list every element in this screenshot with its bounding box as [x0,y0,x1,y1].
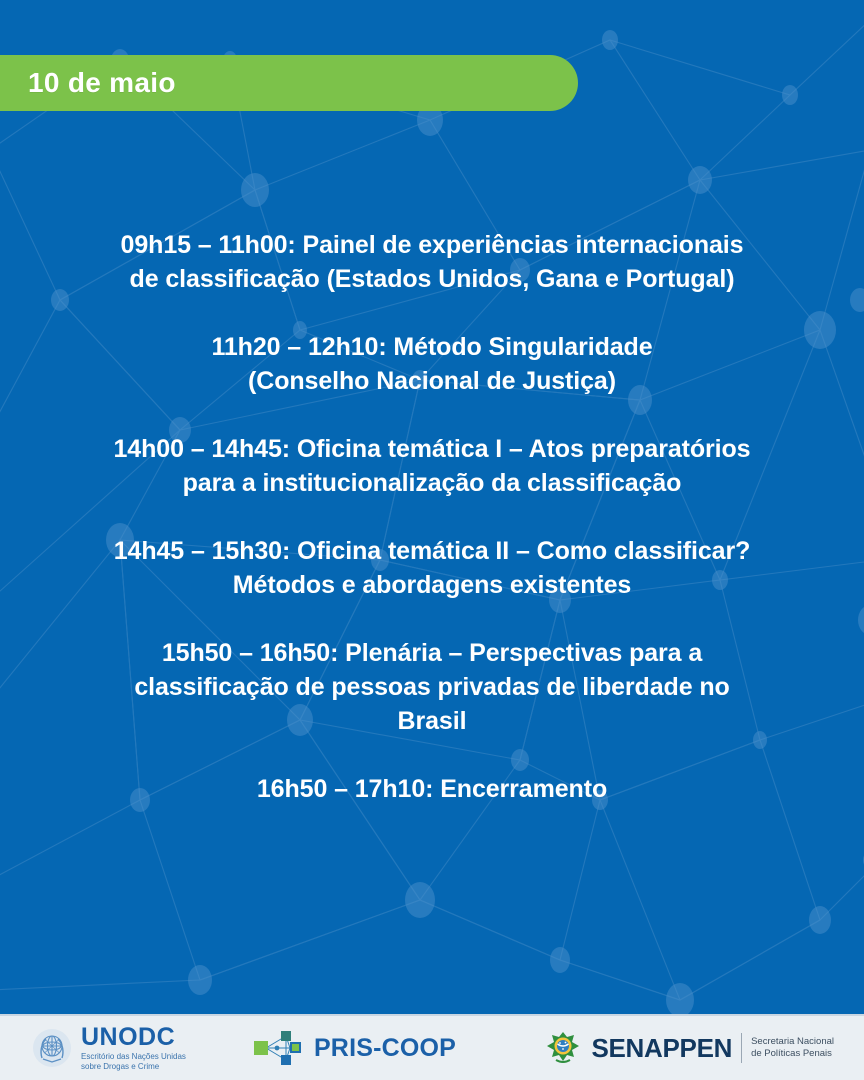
unodc-tagline: Escritório das Nações Unidas sobre Droga… [81,1052,186,1071]
network-nodes-icon [252,1028,304,1068]
poster-canvas: 10 de maio 09h15 – 11h00: Painel de expe… [0,0,864,1080]
unodc-name: UNODC [81,1025,186,1050]
footer-logo-bar: UNODC Escritório das Nações Unidas sobre… [0,1014,864,1080]
brazil-coat-of-arms-icon [544,1029,582,1067]
unodc-logo: UNODC Escritório das Nações Unidas sobre… [32,1025,186,1071]
senappen-name: SENAPPEN [591,1033,732,1064]
date-label: 10 de maio [28,67,176,99]
un-globe-emblem-icon [32,1028,72,1068]
priscoop-name: PRIS-COOP [314,1034,456,1063]
schedule-item: 11h20 – 12h10: Método Singularidade (Con… [72,330,792,398]
date-banner: 10 de maio [0,55,578,111]
senappen-subtitle: Secretaria Nacional de Políticas Penais [751,1036,834,1060]
schedule-list: 09h15 – 11h00: Painel de experiências in… [72,228,792,806]
schedule-item: 15h50 – 16h50: Plenária – Perspectivas p… [72,636,792,738]
unodc-text-block: UNODC Escritório das Nações Unidas sobre… [81,1025,186,1071]
schedule-item: 16h50 – 17h10: Encerramento [72,772,792,806]
senappen-divider [741,1033,742,1063]
schedule-item: 09h15 – 11h00: Painel de experiências in… [72,228,792,296]
senappen-logo: SENAPPEN Secretaria Nacional de Política… [544,1029,834,1067]
schedule-item: 14h00 – 14h45: Oficina temática I – Atos… [72,432,792,500]
priscoop-logo: PRIS-COOP [252,1028,456,1068]
schedule-item: 14h45 – 15h30: Oficina temática II – Com… [72,534,792,602]
